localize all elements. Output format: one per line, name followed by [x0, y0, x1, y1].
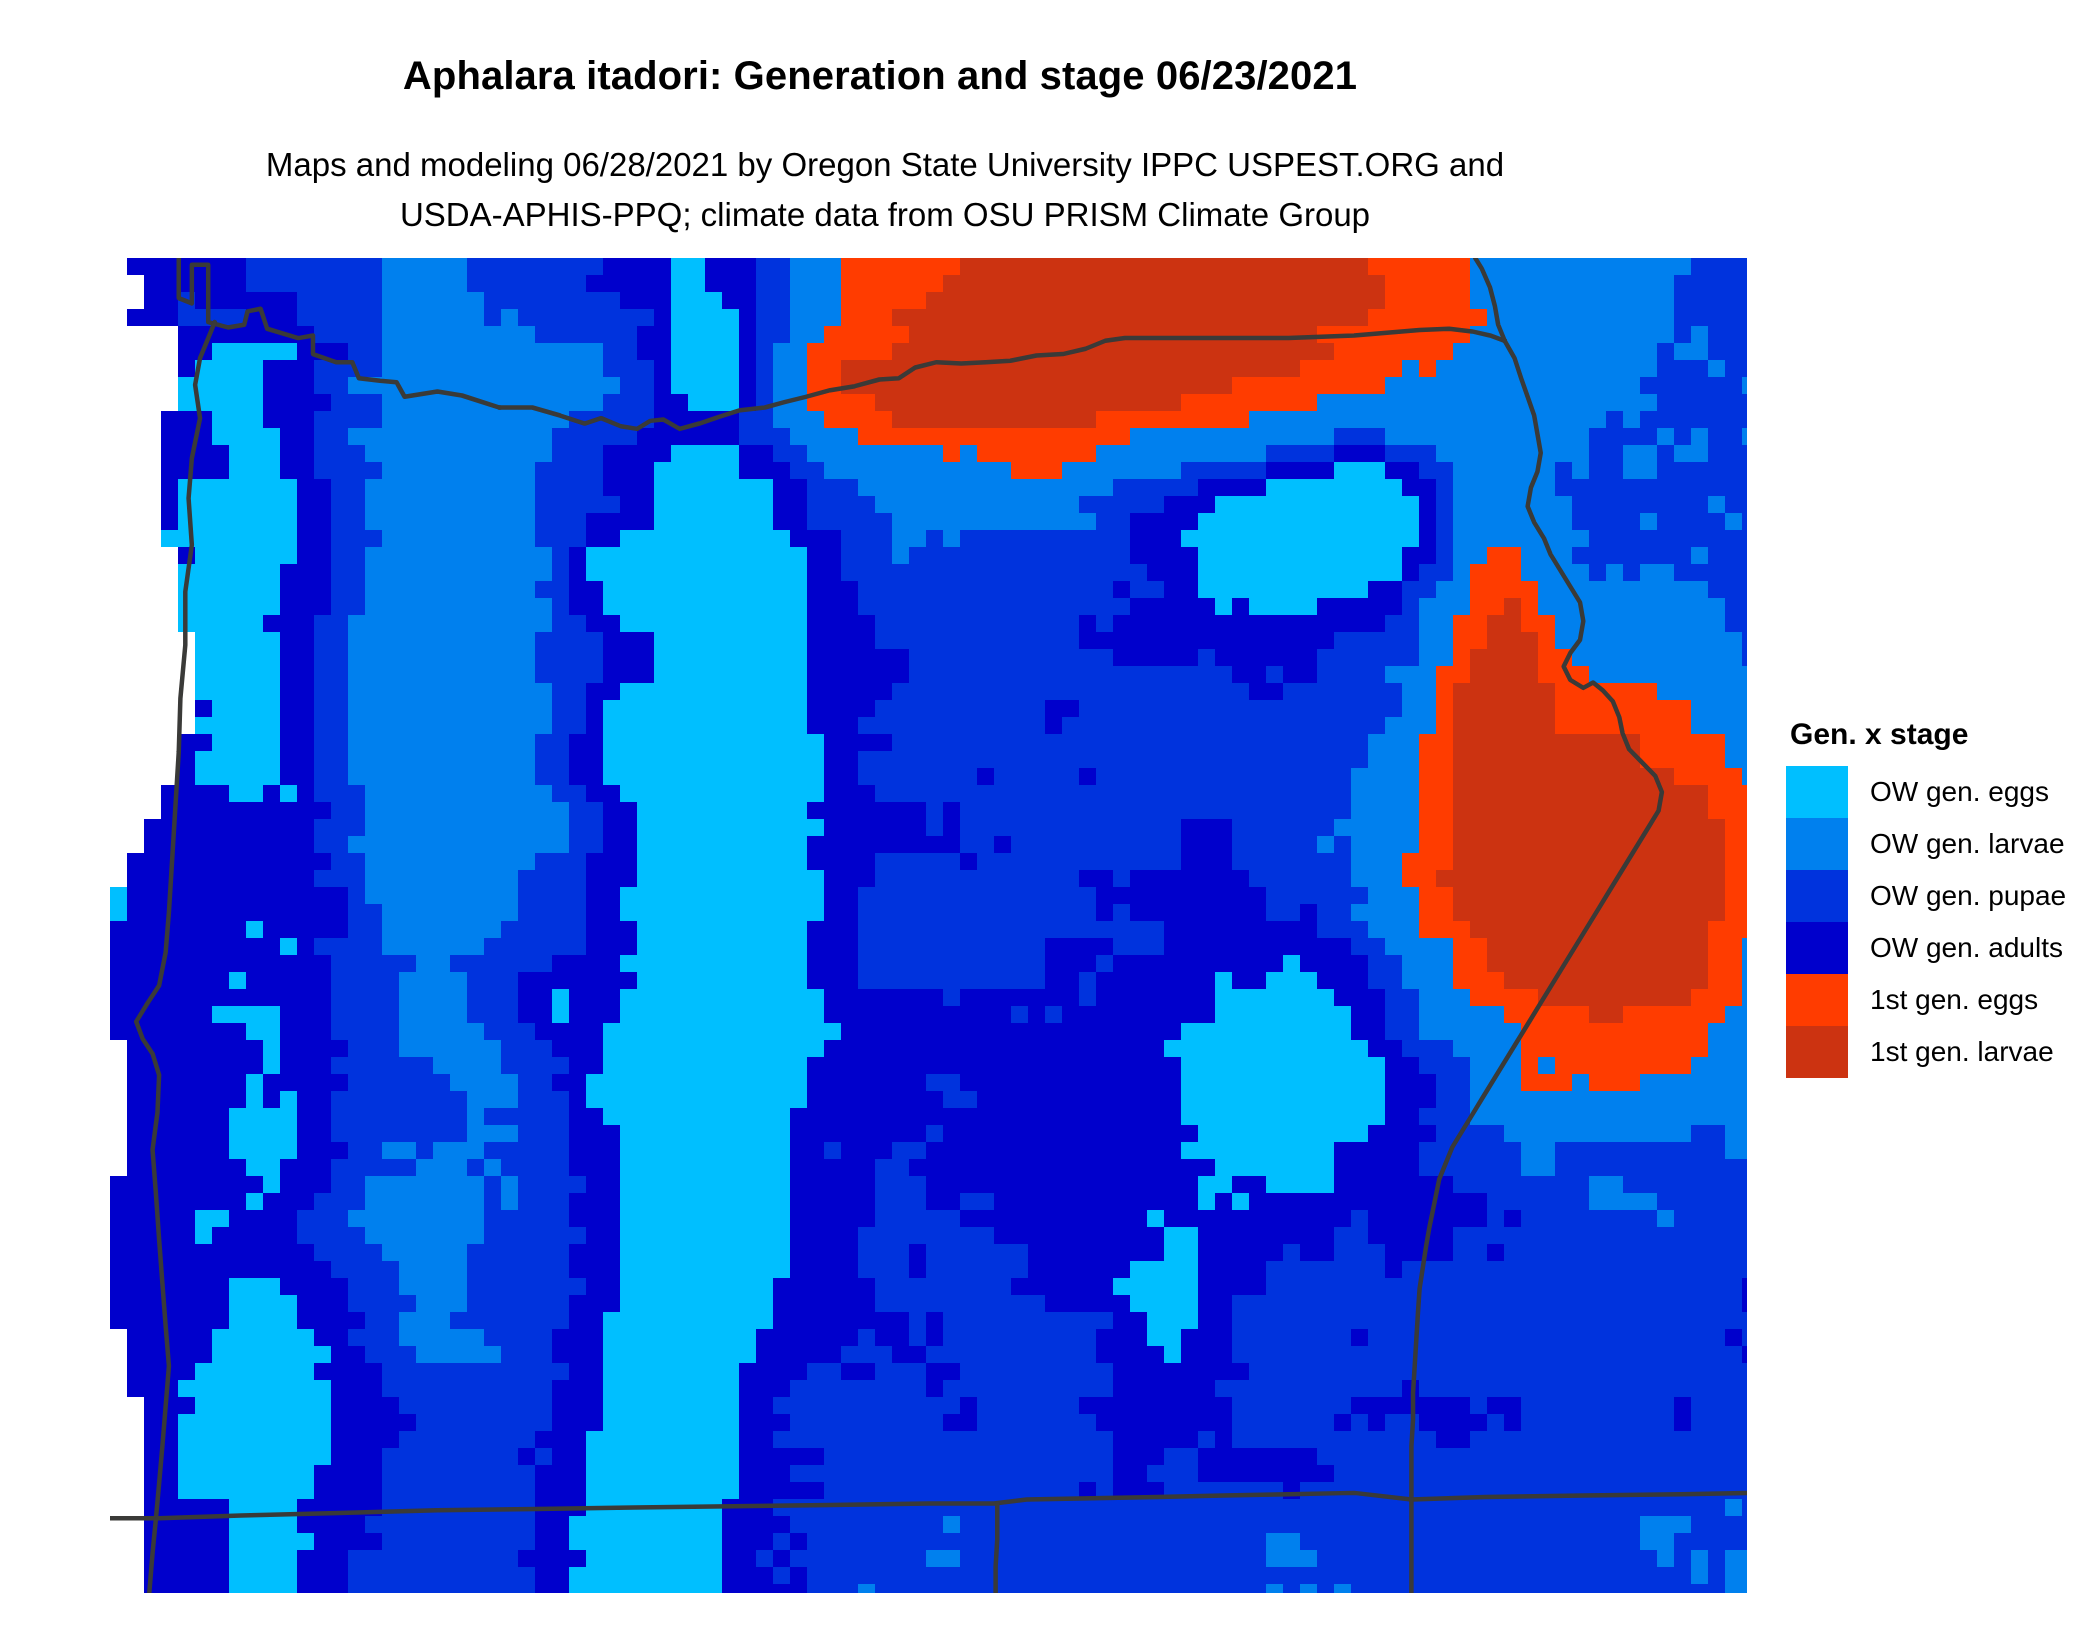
page-title: Aphalara itadori: Generation and stage 0… [0, 54, 1760, 99]
legend-label: OW gen. adults [1870, 922, 2063, 974]
legend-swatch [1786, 974, 1848, 1026]
legend-swatch [1786, 766, 1848, 818]
map-figure-page: Aphalara itadori: Generation and stage 0… [0, 0, 2100, 1645]
legend-label: OW gen. larvae [1870, 818, 2065, 870]
legend-row: OW gen. larvae [1786, 818, 2086, 870]
legend-label: 1st gen. larvae [1870, 1026, 2054, 1078]
subtitle-line-1: Maps and modeling 06/28/2021 by Oregon S… [0, 140, 1770, 190]
legend-label: OW gen. pupae [1870, 870, 2066, 922]
subtitle-line-2: USDA-APHIS-PPQ; climate data from OSU PR… [0, 190, 1770, 240]
map-raster-panel [110, 258, 1747, 1593]
legend-swatch [1786, 818, 1848, 870]
legend-swatch [1786, 922, 1848, 974]
legend-row: OW gen. eggs [1786, 766, 2086, 818]
legend-swatch [1786, 1026, 1848, 1078]
legend-label: OW gen. eggs [1870, 766, 2049, 818]
legend-items: OW gen. eggsOW gen. larvaeOW gen. pupaeO… [1786, 766, 2086, 1078]
legend: Gen. x stage OW gen. eggsOW gen. larvaeO… [1786, 718, 2086, 1078]
phenology-raster-map [110, 258, 1747, 1593]
legend-row: 1st gen. larvae [1786, 1026, 2086, 1078]
page-subtitle: Maps and modeling 06/28/2021 by Oregon S… [0, 140, 1770, 240]
legend-label: 1st gen. eggs [1870, 974, 2038, 1026]
legend-row: 1st gen. eggs [1786, 974, 2086, 1026]
legend-row: OW gen. pupae [1786, 870, 2086, 922]
legend-row: OW gen. adults [1786, 922, 2086, 974]
legend-swatch [1786, 870, 1848, 922]
legend-title: Gen. x stage [1790, 718, 2086, 752]
